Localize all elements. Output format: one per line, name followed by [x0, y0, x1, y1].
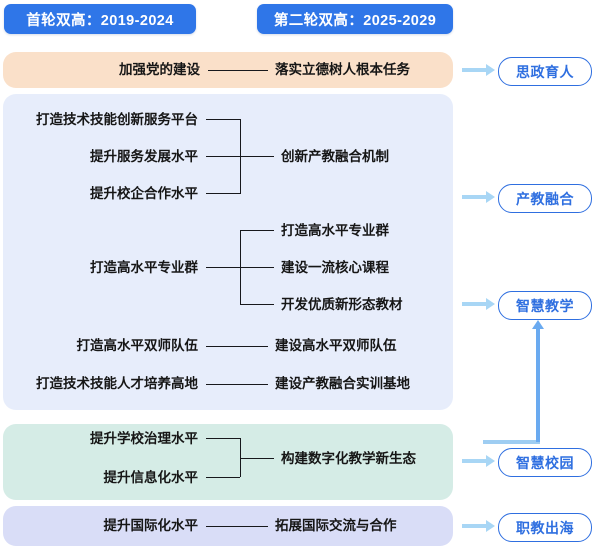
- connector-mechanism-stub: [240, 156, 274, 157]
- arrow-head-party: [486, 64, 495, 76]
- node-improve-school-governance: 提升学校治理水平: [58, 432, 198, 446]
- arrow-shaft-industry: [462, 195, 486, 199]
- arrow-head-campus-to-teaching: [532, 320, 544, 329]
- elbow-vertical-campus-to-teaching: [536, 329, 540, 442]
- arrow-shaft-overseas: [462, 524, 486, 528]
- connector-textbook-stub: [240, 304, 274, 305]
- outcome-capsule-industry-education-integration[interactable]: 产教融合: [498, 184, 592, 213]
- node-strengthen-party-building: 加强党的建设: [60, 63, 200, 77]
- connector-major-left-stub: [206, 267, 240, 268]
- arrow-shaft-campus: [462, 459, 486, 463]
- connector-talent-row: [206, 384, 268, 385]
- connector-platform-stub: [206, 119, 240, 120]
- node-build-integration-training-base: 建设产教融合实训基地: [275, 377, 410, 391]
- arrow-head-campus: [486, 455, 495, 467]
- connector-service-stub: [206, 156, 240, 157]
- arrow-head-overseas: [486, 520, 495, 532]
- outcome-capsule-smart-teaching[interactable]: 智慧教学: [498, 291, 592, 320]
- outcome-capsule-smart-campus[interactable]: 智慧校园: [498, 448, 592, 477]
- phase-pill-first-round[interactable]: 首轮双高：2019-2024: [4, 4, 196, 34]
- arrow-shaft-party: [462, 68, 486, 72]
- band-industry-teaching: [3, 94, 453, 410]
- phase-pill-second-round[interactable]: 第二轮双高：2025-2029: [257, 4, 453, 34]
- node-improve-school-enterprise-cooperation: 提升校企合作水平: [58, 187, 198, 201]
- connector-course-stub: [240, 267, 274, 268]
- node-build-dual-qualified-teachers-right: 建设高水平双师队伍: [275, 339, 397, 353]
- elbow-horizontal-campus-to-teaching: [483, 440, 540, 444]
- node-moral-education-task: 落实立德树人根本任务: [275, 63, 410, 77]
- arrow-head-industry: [486, 191, 495, 203]
- connector-informatization-stub: [206, 477, 240, 478]
- node-build-tech-innovation-platform: 打造技术技能创新服务平台: [8, 113, 198, 127]
- node-build-high-level-major-group-right: 打造高水平专业群: [281, 224, 389, 238]
- node-improve-informatization: 提升信息化水平: [58, 471, 198, 485]
- diagram-canvas: 首轮双高：2019-2024 第二轮双高：2025-2029 加强党的建设 落实…: [0, 0, 600, 548]
- node-build-talent-cultivation-highland: 打造技术技能人才培养高地: [8, 377, 198, 391]
- node-improve-service-development: 提升服务发展水平: [58, 150, 198, 164]
- outcome-capsule-ideological-education[interactable]: 思政育人: [498, 57, 592, 86]
- node-build-first-class-core-courses: 建设一流核心课程: [281, 261, 389, 275]
- connector-coop-stub: [206, 193, 240, 194]
- node-innovate-integration-mechanism: 创新产教融合机制: [281, 150, 389, 164]
- connector-ecosystem-stub: [240, 458, 274, 459]
- connector-teachers-row: [206, 346, 268, 347]
- arrow-shaft-teaching: [462, 302, 486, 306]
- node-improve-internationalization: 提升国际化水平: [58, 519, 198, 533]
- node-build-dual-qualified-teachers-left: 打造高水平双师队伍: [48, 339, 198, 353]
- connector-major-right-stub: [240, 230, 274, 231]
- connector-governance-stub: [206, 438, 240, 439]
- outcome-capsule-vocational-education-overseas[interactable]: 职教出海: [498, 513, 592, 542]
- arrow-head-teaching: [486, 298, 495, 310]
- connector-international-row: [206, 526, 268, 527]
- node-expand-international-exchange: 拓展国际交流与合作: [275, 519, 397, 533]
- node-build-high-level-major-group-left: 打造高水平专业群: [58, 261, 198, 275]
- node-build-digital-teaching-ecosystem: 构建数字化教学新生态: [281, 452, 416, 466]
- connector-party-row: [208, 70, 268, 71]
- node-develop-new-form-textbooks: 开发优质新形态教材: [281, 298, 403, 312]
